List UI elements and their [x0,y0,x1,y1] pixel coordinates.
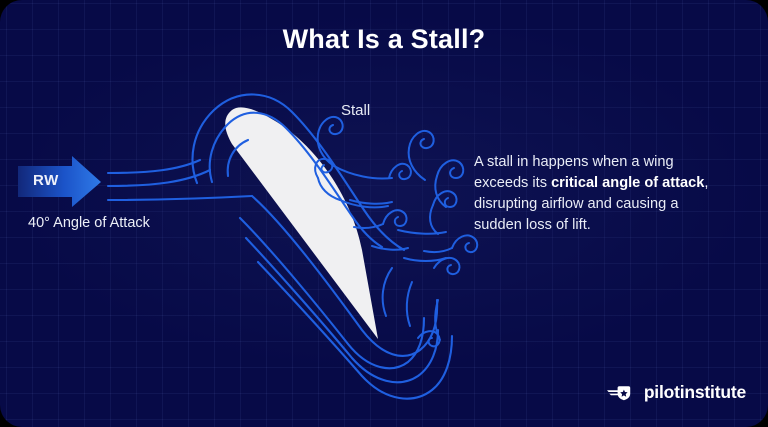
description-paragraph: A stall in happens when a wing exceeds i… [474,152,724,236]
winged-shield-star-icon [607,383,637,403]
brand-name: pilotinstitute [644,382,746,403]
description-emphasis: critical angle of attack [551,175,704,191]
airfoil-shape [225,107,378,339]
angle-of-attack-label: 40° Angle of Attack [28,215,150,231]
brand-logo: pilotinstitute [607,382,746,403]
infographic-card: What Is a Stall? [0,0,768,427]
stall-annotation-label: Stall [341,102,370,119]
relative-wind-label: RW [33,172,59,189]
relative-wind-arrow [18,156,101,207]
upstream-streamlines [108,160,252,200]
